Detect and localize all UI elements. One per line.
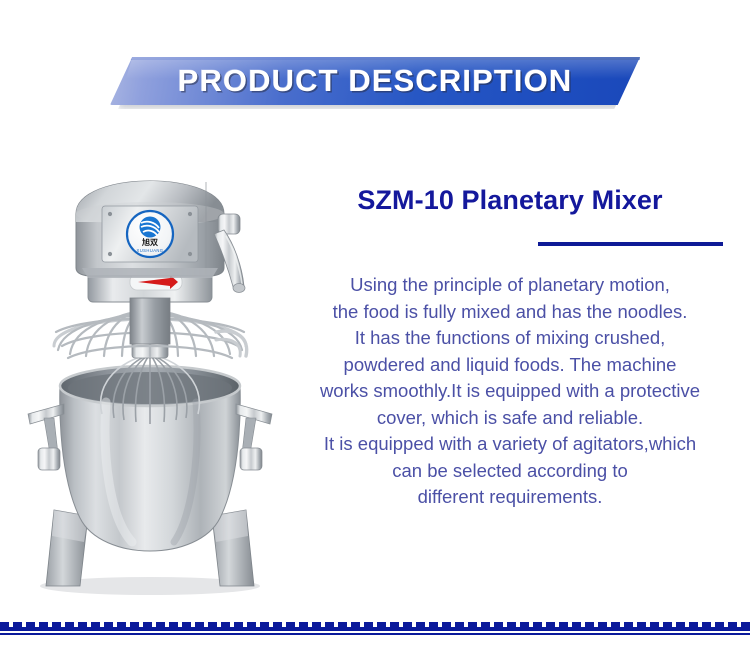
description-line: It has the functions of mixing crushed, [294,325,726,352]
description-line: different requirements. [294,484,726,511]
description-line: Using the principle of planetary motion, [294,272,726,299]
description-line: It is equipped with a variety of agitato… [294,431,726,458]
description-line: cover, which is safe and reliable. [294,405,726,432]
product-description-text: Using the principle of planetary motion,… [290,272,730,511]
mixer-shaft-cover [130,298,170,344]
title-divider [538,242,723,246]
description-line: the food is fully mixed and has the nood… [294,299,726,326]
description-line: works smoothly.It is equipped with a pro… [294,378,726,405]
product-description-banner: PRODUCT DESCRIPTION [110,57,640,107]
product-photo-planetary-mixer: 旭双 XUSHUANG [10,118,300,598]
svg-text:XUSHUANG: XUSHUANG [137,248,164,253]
footer-teeth-base [0,627,750,631]
description-line: powdered and liquid foods. The machine [294,352,726,379]
footer-solid-rule [0,633,750,635]
page-title: SZM-10 Planetary Mixer [290,185,730,216]
svg-text:旭双: 旭双 [141,237,158,247]
product-info-panel: SZM-10 Planetary Mixer Using the princip… [290,185,730,511]
mixer-brand-plate: 旭双 XUSHUANG [102,206,198,262]
description-line: can be selected according to [294,458,726,485]
footer-decorative-border [0,622,750,636]
banner-title: PRODUCT DESCRIPTION [110,57,640,105]
